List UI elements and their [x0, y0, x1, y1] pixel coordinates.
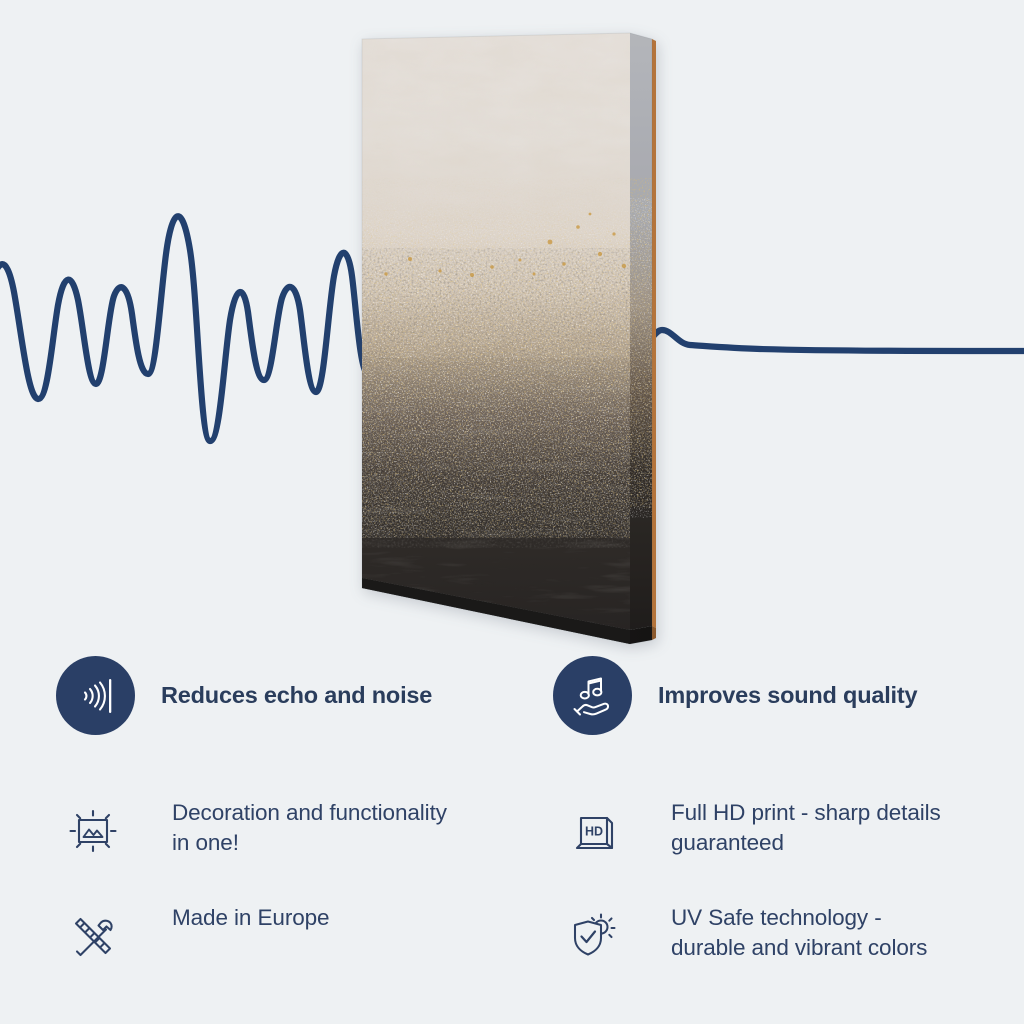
feature-list: Reduces echo and noise: [0, 640, 1024, 1024]
canvas-print-product: [352, 28, 672, 648]
uv-shield-sun-icon: [565, 905, 627, 967]
sound-waves-absorbed-icon: [56, 656, 135, 735]
music-note-in-hand-icon: [553, 656, 632, 735]
feature-label-line: Made in Europe: [172, 905, 329, 930]
feature-uv-safe-technology: UV Safe technology - durable and vibrant…: [565, 903, 927, 967]
feature-made-in-europe: Made in Europe: [62, 903, 329, 967]
feature-decoration-functionality: Decoration and functionality in one!: [62, 798, 447, 862]
framed-picture-shine-icon: [62, 800, 124, 862]
feature-label-line: Full HD print - sharp details: [671, 800, 941, 825]
feature-label: Full HD print - sharp details guaranteed: [671, 798, 941, 858]
feature-label-line: Decoration and functionality: [172, 800, 447, 825]
hd-icon-text: HD: [585, 825, 603, 839]
feature-label-line: in one!: [172, 830, 239, 855]
ruler-and-hammer-icon: [62, 905, 124, 967]
canvas-front-face: [352, 28, 672, 648]
headline-label: Improves sound quality: [658, 683, 917, 709]
frame-wood-edge: [652, 39, 656, 628]
feature-label-line: UV Safe technology -: [671, 905, 882, 930]
feature-full-hd-print: HD Full HD print - sharp details guarant…: [565, 798, 941, 862]
feature-label: Made in Europe: [172, 903, 329, 933]
headline-feature-reduces-echo: Reduces echo and noise: [56, 656, 432, 735]
hd-print-icon: HD: [565, 800, 627, 862]
feature-label-line: guaranteed: [671, 830, 784, 855]
headline-feature-sound-quality: Improves sound quality: [553, 656, 917, 735]
feature-label-line: durable and vibrant colors: [671, 935, 927, 960]
feature-label: Decoration and functionality in one!: [172, 798, 447, 858]
feature-label: UV Safe technology - durable and vibrant…: [671, 903, 927, 963]
infographic-root: Reduces echo and noise: [0, 0, 1024, 1024]
headline-label: Reduces echo and noise: [161, 683, 432, 709]
